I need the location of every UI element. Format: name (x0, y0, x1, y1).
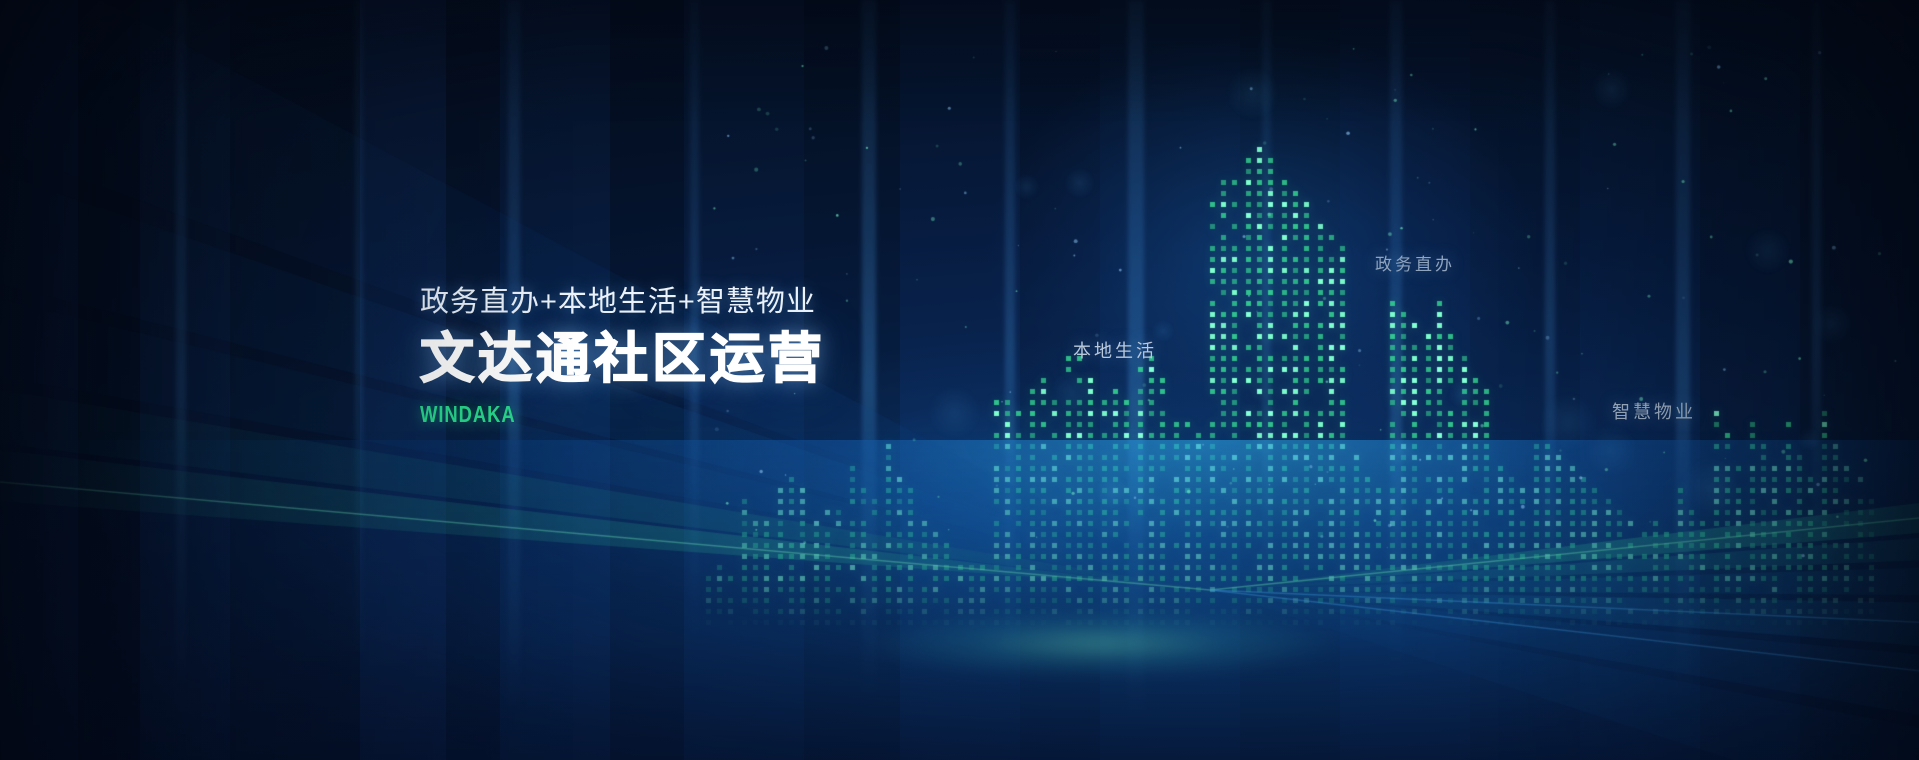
background-stripe (0, 0, 78, 760)
background-stripe (230, 0, 360, 760)
skyline-label-government: 政务直办 (1375, 250, 1455, 275)
light-beam (1262, 0, 1271, 600)
background-stripe (1100, 0, 1240, 760)
perspective-rays (0, 0, 1919, 760)
light-beam (1390, 0, 1402, 680)
light-beam (355, 0, 363, 660)
background-stripe (1240, 0, 1340, 760)
perspective-ground-plane (0, 440, 1919, 760)
light-beam (862, 0, 876, 700)
edge-vignette (0, 0, 1919, 760)
light-beam (176, 0, 186, 700)
dot-matrix-skyline (0, 0, 1919, 760)
background-stripe (78, 0, 140, 760)
light-beam (1812, 0, 1821, 640)
background-stripe (1470, 0, 1580, 760)
background-stripe (900, 0, 1020, 760)
background-stripe (1020, 0, 1100, 760)
horizon-glow (780, 596, 1420, 692)
skyline-label-local-life: 本地生活 (1073, 337, 1157, 363)
brand-wordmark: WINDAKA (420, 403, 745, 426)
background-stripes (0, 0, 1919, 760)
sparkle-particles (0, 0, 1919, 760)
background-stripe (1700, 0, 1800, 760)
skyline-label-smart-property: 智慧物业 (1612, 398, 1696, 424)
ground-fade-overlay (0, 430, 1919, 760)
sky-haze-glow (880, 0, 1640, 580)
hero-banner: 政务直办+本地生活+智慧物业 文达通社区运营 WINDAKA 政务直办 本地生活… (0, 0, 1919, 760)
hero-subtitle: 政务直办+本地生活+智慧物业 (420, 288, 826, 317)
background-stripe (1340, 0, 1470, 760)
light-beam (1676, 0, 1690, 700)
hero-main-title: 文达通社区运营 (420, 332, 826, 386)
light-beams (0, 0, 1919, 760)
hero-copy-block: 政务直办+本地生活+智慧物业 文达通社区运营 WINDAKA (420, 288, 826, 426)
light-beam (1005, 0, 1015, 660)
background-stripe (1800, 0, 1919, 760)
light-beam (1545, 0, 1555, 620)
background-stripe (1580, 0, 1700, 760)
background-stripe (140, 0, 230, 760)
